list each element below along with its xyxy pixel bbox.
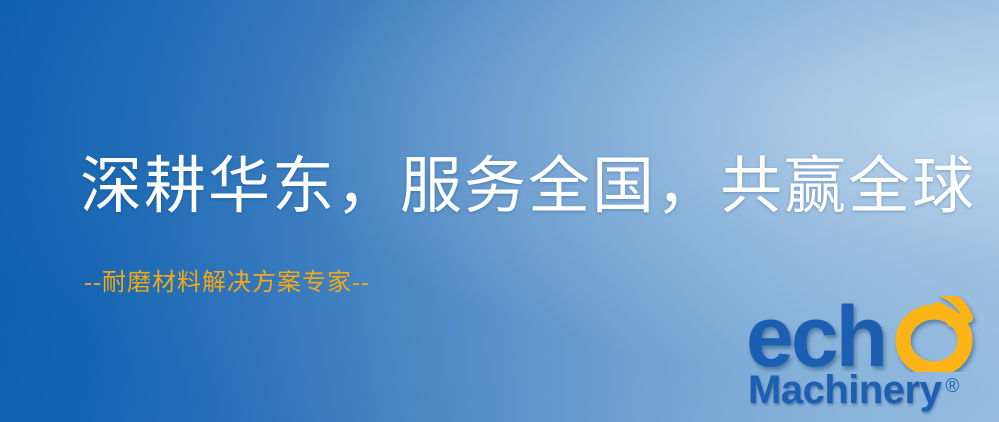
logo-tagline-text: Machinery [748, 368, 941, 412]
page-subtitle: --耐磨材料解决方案专家-- [84, 268, 370, 298]
hero-banner: 深耕华东，服务全国，共赢全球 --耐磨材料解决方案专家-- ech [0, 0, 999, 422]
company-logo[interactable]: ech Machinery ® [742, 296, 999, 422]
logo-text-ech: ech [746, 296, 885, 372]
page-title: 深耕华东，服务全国，共赢全球 [80, 152, 976, 222]
registered-trademark-icon: ® [945, 377, 959, 396]
logo-tagline: Machinery ® [748, 368, 959, 414]
logo-wordmark-echo: ech [746, 296, 999, 372]
